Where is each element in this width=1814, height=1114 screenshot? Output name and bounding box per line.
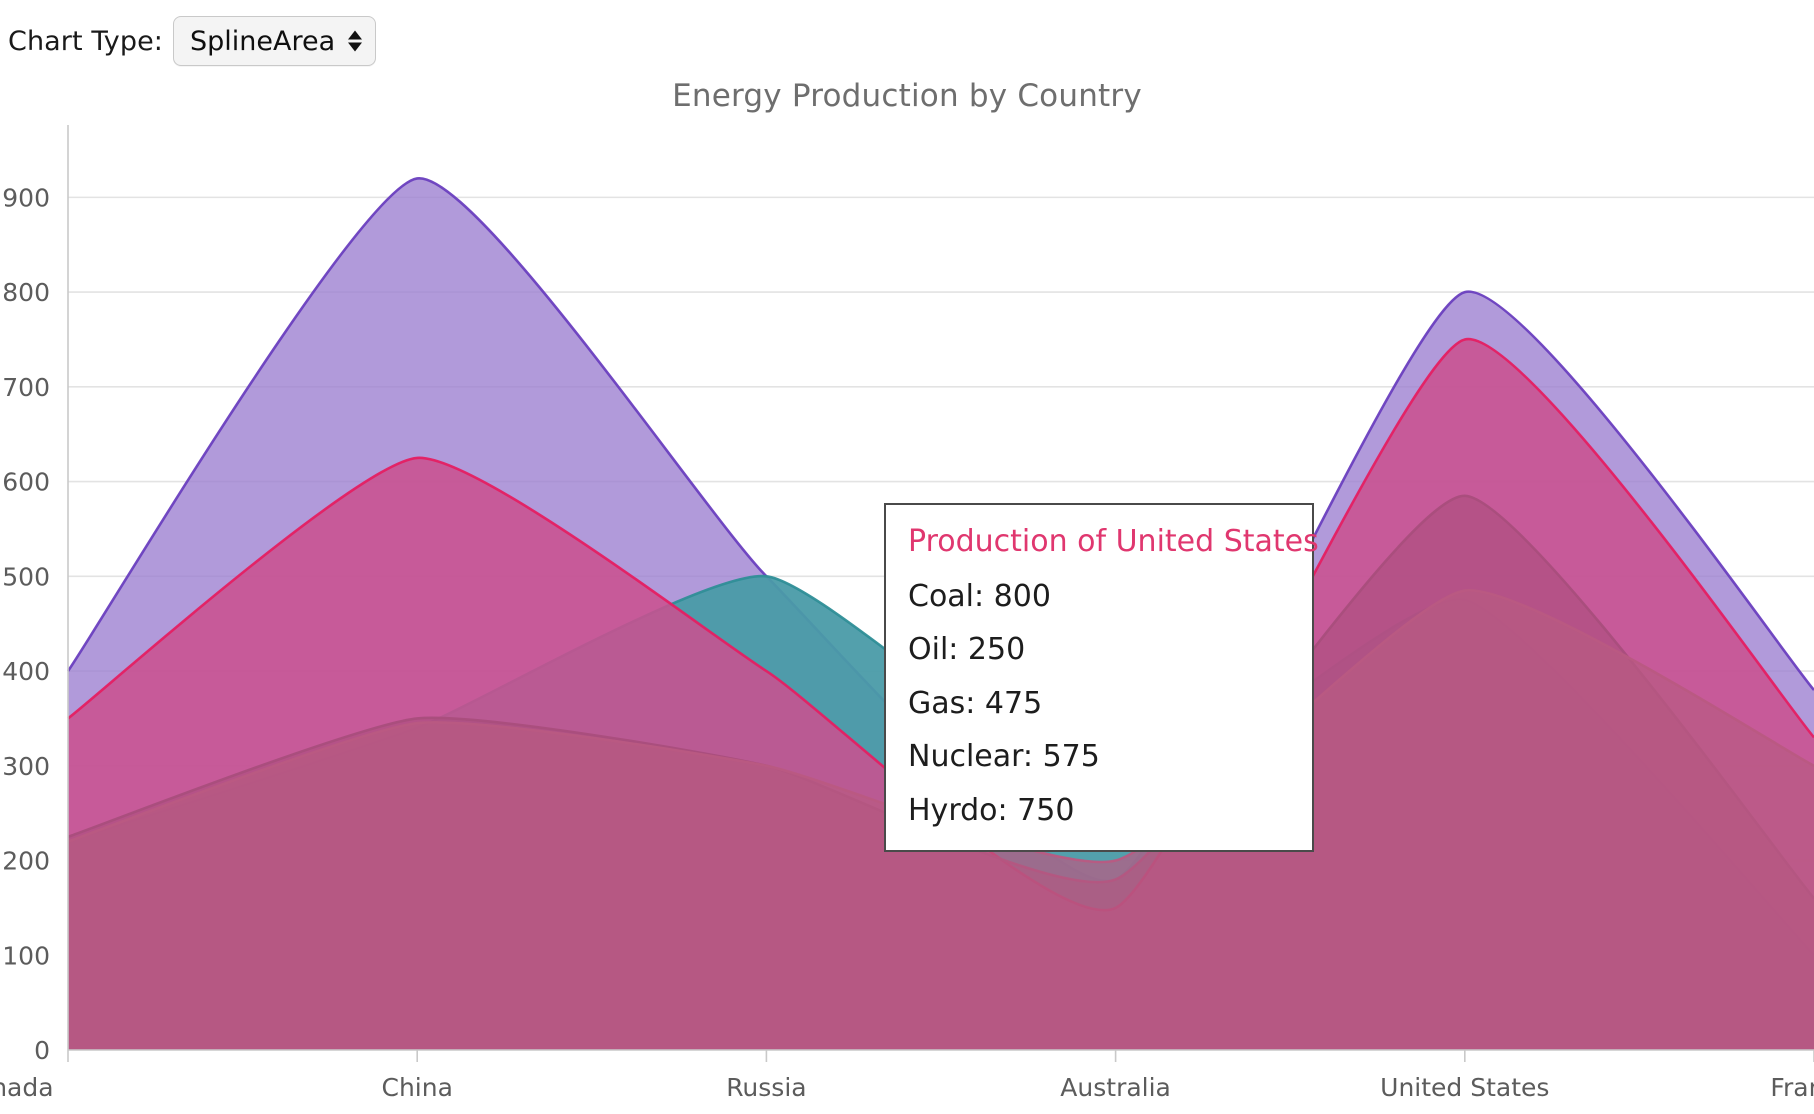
x-axis-tick-label: China: [381, 1073, 452, 1102]
x-axis-tick-label: Canada: [0, 1073, 54, 1102]
tooltip-rows: Coal: 800Oil: 250Gas: 475Nuclear: 575Hyr…: [908, 580, 1290, 829]
x-axis-tick-label: United States: [1380, 1073, 1549, 1102]
y-axis-tick-label: 500: [2, 562, 50, 591]
chart-page: Chart Type: SplineArea Energy Production…: [0, 0, 1814, 1114]
tooltip-row: Gas: 475: [908, 687, 1290, 722]
y-axis-tick-label: 300: [2, 752, 50, 781]
y-axis-tick-label: 900: [2, 183, 50, 212]
y-axis-tick-label: 0: [34, 1036, 50, 1065]
chart-tooltip: Production of United States Coal: 800Oil…: [884, 503, 1314, 852]
y-axis-tick-label: 800: [2, 278, 50, 307]
tooltip-row: Hyrdo: 750: [908, 794, 1290, 829]
tooltip-row: Oil: 250: [908, 633, 1290, 668]
tooltip-row: Coal: 800: [908, 580, 1290, 615]
y-axis-tick-label: 400: [2, 657, 50, 686]
y-axis-tick-label: 700: [2, 373, 50, 402]
x-axis-tick-label: France: [1770, 1073, 1814, 1102]
y-axis-tick-label: 600: [2, 468, 50, 497]
x-axis-tick-label: Russia: [726, 1073, 806, 1102]
tooltip-row: Nuclear: 575: [908, 740, 1290, 775]
tooltip-header: Production of United States: [908, 525, 1290, 560]
x-axis-tick-label: Australia: [1060, 1073, 1171, 1102]
y-axis-tick-label: 200: [2, 847, 50, 876]
y-axis-tick-label: 100: [2, 941, 50, 970]
